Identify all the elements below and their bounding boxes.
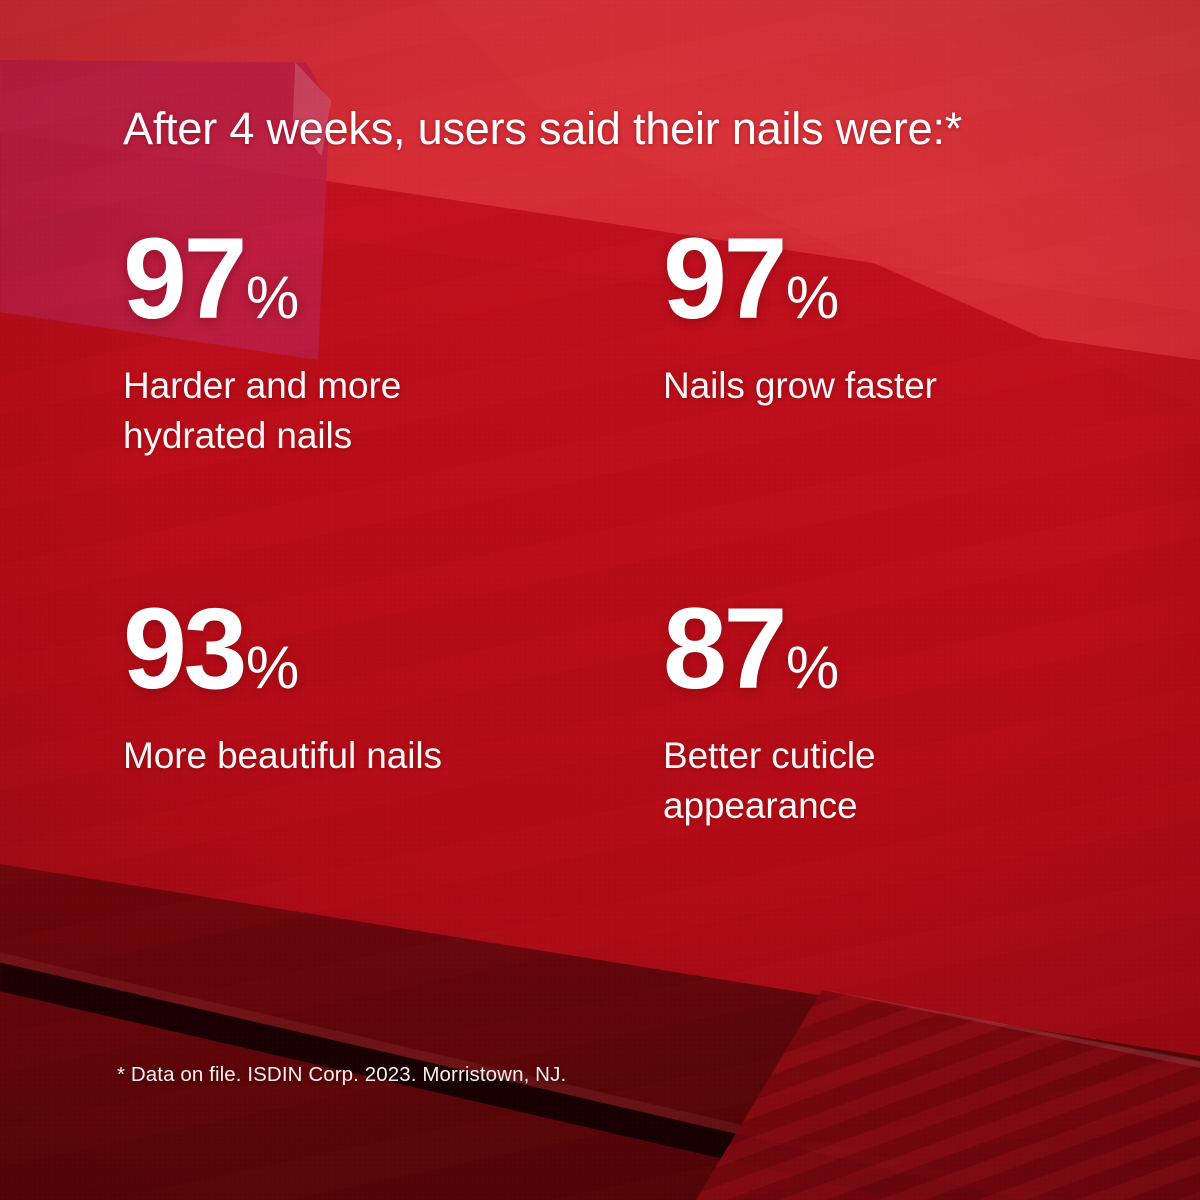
percent-symbol: %: [786, 264, 838, 331]
stat-nails-grow-faster: 97% Nails grow faster: [663, 222, 1083, 592]
percent-symbol: %: [246, 264, 298, 331]
footnote-source: * Data on file. ISDIN Corp. 2023. Morris…: [117, 1063, 566, 1087]
stat-number: 93: [123, 585, 244, 713]
percent-symbol: %: [786, 634, 838, 701]
infographic-stage: After 4 weeks, users said their nails we…: [0, 0, 1200, 1200]
percent-symbol: %: [246, 634, 298, 701]
stat-number: 97: [663, 215, 784, 343]
stat-number: 97: [123, 215, 244, 343]
stats-grid: 97% Harder and more hydrated nails 97% N…: [123, 222, 1083, 831]
stat-label: Harder and more hydrated nails: [123, 361, 543, 461]
stat-better-cuticle-appearance: 87% Better cuticle appearance: [663, 592, 1083, 831]
stat-label: Nails grow faster: [663, 361, 1063, 411]
stat-more-beautiful-nails: 93% More beautiful nails: [123, 592, 663, 831]
page-title: After 4 weeks, users said their nails we…: [123, 98, 1053, 160]
stat-value: 97%: [663, 222, 1083, 337]
stat-value: 87%: [663, 592, 1083, 707]
content-area: After 4 weeks, users said their nails we…: [0, 0, 1200, 1200]
stat-value: 93%: [123, 592, 663, 707]
stat-label: Better cuticle appearance: [663, 731, 1063, 831]
stat-value: 97%: [123, 222, 663, 337]
stat-number: 87: [663, 585, 784, 713]
stat-harder-hydrated-nails: 97% Harder and more hydrated nails: [123, 222, 663, 592]
stat-label: More beautiful nails: [123, 731, 543, 781]
